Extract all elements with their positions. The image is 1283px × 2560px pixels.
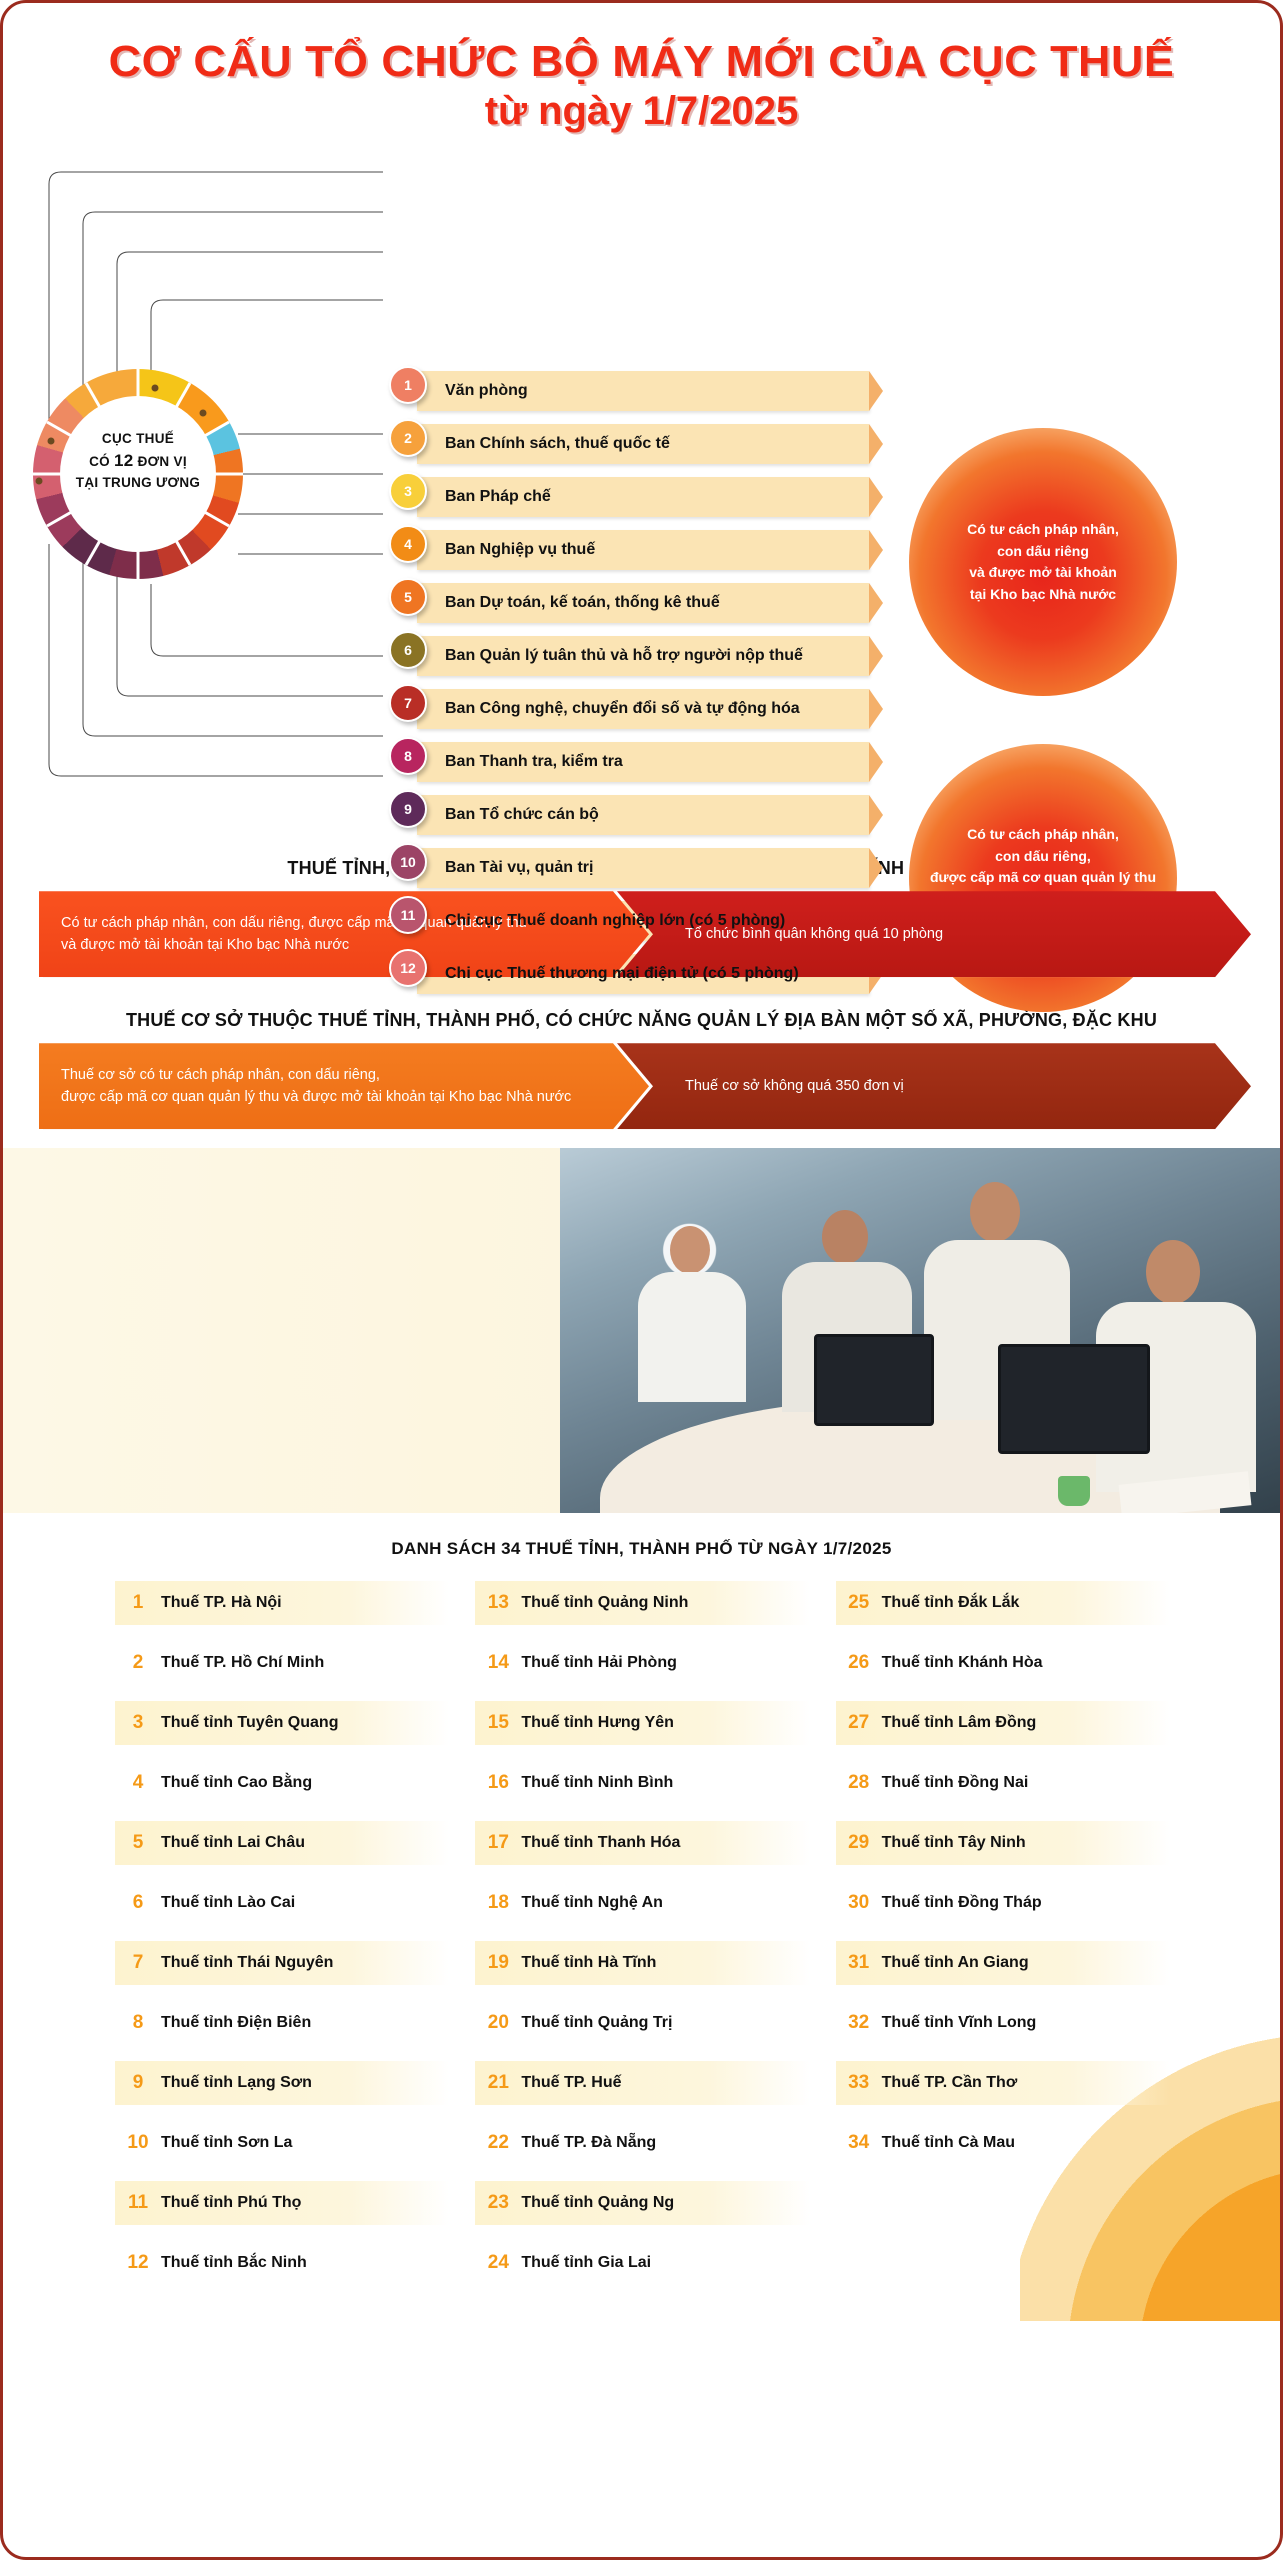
donut-chart: CỤC THUẾ CÓ 12 ĐƠN VỊ TẠI TRUNG ƯƠNG — [33, 369, 243, 579]
province-name: Thuế tỉnh Khánh Hòa — [882, 1654, 1043, 1672]
province-row: 23Thuế tỉnh Quảng Ng — [475, 2181, 809, 2225]
province-name: Thuế tỉnh Hà Tĩnh — [521, 1954, 656, 1972]
s2-right-line1: Thuế cơ sở không quá 350 đơn vị — [685, 1075, 904, 1097]
province-row: 25Thuế tỉnh Đắk Lắk — [836, 1581, 1170, 1625]
province-number: 18 — [475, 1892, 521, 1914]
province-number: 24 — [475, 2252, 521, 2274]
s2-left-line1: Thuế cơ sở có tư cách pháp nhân, con dấu… — [61, 1064, 571, 1086]
tax-office-photo — [560, 1148, 1280, 1513]
page-header: CƠ CẤU TỔ CHỨC BỘ MÁY MỚI CỦA CỤC THUẾ t… — [3, 3, 1280, 144]
province-name: Thuế TP. Hồ Chí Minh — [161, 1654, 324, 1672]
province-name: Thuế tỉnh Đồng Tháp — [882, 1894, 1042, 1912]
province-number: 5 — [115, 1832, 161, 1854]
province-number: 11 — [115, 2192, 161, 2214]
province-row: 5Thuế tỉnh Lai Châu — [115, 1821, 449, 1865]
donut-prefix: CÓ — [89, 454, 114, 469]
unit-row: 2Ban Chính sách, thuế quốc tế — [389, 419, 869, 471]
unit-row: 3Ban Pháp chế — [389, 472, 869, 524]
province-list-title: DANH SÁCH 34 THUẾ TỈNH, THÀNH PHỐ TỪ NGÀ… — [3, 1539, 1280, 1559]
province-number: 13 — [475, 1592, 521, 1614]
province-row: 31Thuế tỉnh An Giang — [836, 1941, 1170, 1985]
province-number: 17 — [475, 1832, 521, 1854]
province-list-section: DANH SÁCH 34 THUẾ TỈNH, THÀNH PHỐ TỪ NGÀ… — [3, 1513, 1280, 2321]
province-name: Thuế tỉnh Quảng Trị — [521, 2014, 672, 2032]
province-number: 29 — [836, 1832, 882, 1854]
photo-monitor-1 — [814, 1334, 934, 1426]
photo-monitor-2 — [998, 1344, 1150, 1454]
unit-row: 5Ban Dự toán, kế toán, thống kê thuế — [389, 578, 869, 630]
province-number: 6 — [115, 1892, 161, 1914]
province-row: 6Thuế tỉnh Lào Cai — [115, 1881, 449, 1925]
province-name: Thuế tỉnh Đắk Lắk — [882, 1594, 1020, 1612]
province-name: Thuế tỉnh Sơn La — [161, 2134, 292, 2152]
province-row: 9Thuế tỉnh Lạng Sơn — [115, 2061, 449, 2105]
province-row: 21Thuế TP. Huế — [475, 2061, 809, 2105]
province-name: Thuế tỉnh Vĩnh Long — [882, 2014, 1037, 2032]
province-row: 29Thuế tỉnh Tây Ninh — [836, 1821, 1170, 1865]
unit-number: 11 — [389, 896, 427, 934]
province-number: 9 — [115, 2072, 161, 2094]
province-number: 20 — [475, 2012, 521, 2034]
province-number: 34 — [836, 2132, 882, 2154]
province-row: 11Thuế tỉnh Phú Thọ — [115, 2181, 449, 2225]
province-number: 15 — [475, 1712, 521, 1734]
province-number: 4 — [115, 1772, 161, 1794]
donut-unit-count: 12 — [114, 451, 134, 470]
donut-center-line2: CÓ 12 ĐƠN VỊ — [51, 449, 225, 474]
province-row: 3Thuế tỉnh Tuyên Quang — [115, 1701, 449, 1745]
province-name: Thuế tỉnh Đồng Nai — [882, 1774, 1029, 1792]
unit-row: 4Ban Nghiệp vụ thuế — [389, 525, 869, 577]
province-number: 10 — [115, 2132, 161, 2154]
donut-suffix: ĐƠN VỊ — [134, 454, 187, 469]
province-row: 28Thuế tỉnh Đồng Nai — [836, 1761, 1170, 1805]
province-row: 26Thuế tỉnh Khánh Hòa — [836, 1641, 1170, 1685]
page-title: CƠ CẤU TỔ CHỨC BỘ MÁY MỚI CỦA CỤC THUẾ — [0, 37, 1283, 86]
province-number: 22 — [475, 2132, 521, 2154]
province-number: 26 — [836, 1652, 882, 1674]
unit-label: Ban Tài vụ, quản trị — [445, 843, 593, 893]
province-name: Thuế tỉnh Lai Châu — [161, 1834, 305, 1852]
donut-center-line1: CỤC THUẾ — [51, 429, 225, 449]
province-name: Thuế TP. Cần Thơ — [882, 2074, 1018, 2092]
province-name: Thuế tỉnh Tuyên Quang — [161, 1714, 338, 1732]
province-name: Thuế tỉnh Bắc Ninh — [161, 2254, 307, 2272]
province-grid: 1Thuế TP. Hà Nội2Thuế TP. Hồ Chí Minh3Th… — [3, 1581, 1280, 2301]
province-name: Thuế tỉnh Nghệ An — [521, 1894, 663, 1912]
province-name: Thuế tỉnh Quảng Ng — [521, 2194, 674, 2212]
province-number: 28 — [836, 1772, 882, 1794]
photo-person-head-1 — [670, 1226, 710, 1274]
province-row: 16Thuế tỉnh Ninh Bình — [475, 1761, 809, 1805]
org-structure-diagram: CỤC THUẾ CÓ 12 ĐƠN VỊ TẠI TRUNG ƯƠNG 1Vă… — [3, 144, 1280, 844]
unit-label: Ban Tổ chức cán bộ — [445, 790, 599, 840]
section-2-right-banner: Thuế cơ sở không quá 350 đơn vị — [617, 1043, 1251, 1129]
province-row: 1Thuế TP. Hà Nội — [115, 1581, 449, 1625]
province-name: Thuế tỉnh Điện Biên — [161, 2014, 311, 2032]
province-name: Thuế tỉnh An Giang — [882, 1954, 1029, 1972]
badge-line: được cấp mã cơ quan quản lý thu — [930, 867, 1156, 889]
province-row: 14Thuế tỉnh Hải Phòng — [475, 1641, 809, 1685]
province-row: 32Thuế tỉnh Vĩnh Long — [836, 2001, 1170, 2045]
unit-label: Ban Nghiệp vụ thuế — [445, 525, 595, 575]
photo-person-head-3 — [970, 1182, 1020, 1242]
unit-label: Văn phòng — [445, 366, 528, 416]
province-row: 2Thuế TP. Hồ Chí Minh — [115, 1641, 449, 1685]
province-column-1: 1Thuế TP. Hà Nội2Thuế TP. Hồ Chí Minh3Th… — [115, 1581, 449, 2301]
province-name: Thuế tỉnh Lâm Đồng — [882, 1714, 1037, 1732]
province-row: 12Thuế tỉnh Bắc Ninh — [115, 2241, 449, 2285]
unit-label: Ban Chính sách, thuế quốc tế — [445, 419, 670, 469]
badge-legal-status-1: Có tư cách pháp nhân,con dấu riêngvà đượ… — [909, 428, 1177, 696]
province-row: 34Thuế tỉnh Cà Mau — [836, 2121, 1170, 2165]
province-row: 18Thuế tỉnh Nghệ An — [475, 1881, 809, 1925]
donut-center-line3: TẠI TRUNG ƯƠNG — [51, 473, 225, 493]
province-name: Thuế tỉnh Lạng Sơn — [161, 2074, 312, 2092]
unit-row: 12Chi cục Thuế thương mại điện tử (có 5 … — [389, 949, 869, 1001]
unit-label: Ban Thanh tra, kiểm tra — [445, 737, 623, 787]
badge-line: Có tư cách pháp nhân, — [930, 824, 1156, 846]
province-row: 22Thuế TP. Đà Nẵng — [475, 2121, 809, 2165]
badge-line: con dấu riêng — [967, 541, 1119, 563]
unit-number: 3 — [389, 472, 427, 510]
province-name: Thuế tỉnh Phú Thọ — [161, 2194, 301, 2212]
infographic-page: CƠ CẤU TỔ CHỨC BỘ MÁY MỚI CỦA CỤC THUẾ t… — [0, 0, 1283, 2560]
province-row: 33Thuế TP. Cần Thơ — [836, 2061, 1170, 2105]
section-2-left-banner: Thuế cơ sở có tư cách pháp nhân, con dấu… — [39, 1043, 649, 1129]
photo-person-head-2 — [822, 1210, 868, 1264]
unit-row: 6Ban Quản lý tuân thủ và hỗ trợ người nộ… — [389, 631, 869, 683]
unit-number: 12 — [389, 949, 427, 987]
unit-label: Ban Công nghệ, chuyển đổi số và tự động … — [445, 684, 800, 734]
province-name: Thuế tỉnh Thanh Hóa — [521, 1834, 680, 1852]
province-name: Thuế tỉnh Gia Lai — [521, 2254, 651, 2272]
office-photo-strip: CỤC TRƯỞNG CỤC THUẾ CÓ TRÁCH NHIỆM quy đ… — [3, 1148, 1280, 1513]
province-number: 14 — [475, 1652, 521, 1674]
province-row: 27Thuế tỉnh Lâm Đồng — [836, 1701, 1170, 1745]
province-column-2: 13Thuế tỉnh Quảng Ninh14Thuế tỉnh Hải Ph… — [475, 1581, 809, 2301]
unit-label: Ban Dự toán, kế toán, thống kê thuế — [445, 578, 720, 628]
province-number: 30 — [836, 1892, 882, 1914]
province-name: Thuế tỉnh Tây Ninh — [882, 1834, 1026, 1852]
badge-line: con dấu riêng, — [930, 846, 1156, 868]
province-row: 17Thuế tỉnh Thanh Hóa — [475, 1821, 809, 1865]
province-row: 7Thuế tỉnh Thái Nguyên — [115, 1941, 449, 1985]
province-number: 8 — [115, 2012, 161, 2034]
page-subtitle: từ ngày 1/7/2025 — [3, 88, 1280, 134]
badge-line: và được mở tài khoản — [967, 562, 1119, 584]
province-row: 4Thuế tỉnh Cao Bằng — [115, 1761, 449, 1805]
badge-line: Có tư cách pháp nhân, — [967, 519, 1119, 541]
unit-number: 7 — [389, 684, 427, 722]
province-number: 32 — [836, 2012, 882, 2034]
province-name: Thuế TP. Đà Nẵng — [521, 2134, 656, 2152]
province-name: Thuế tỉnh Lào Cai — [161, 1894, 295, 1912]
donut-center-label: CỤC THUẾ CÓ 12 ĐƠN VỊ TẠI TRUNG ƯƠNG — [51, 429, 225, 493]
province-column-3: 25Thuế tỉnh Đắk Lắk26Thuế tỉnh Khánh Hòa… — [836, 1581, 1170, 2301]
province-row: 19Thuế tỉnh Hà Tĩnh — [475, 1941, 809, 1985]
province-name: Thuế TP. Hà Nội — [161, 1594, 282, 1612]
photo-person-body-1 — [638, 1272, 746, 1402]
province-number: 1 — [115, 1592, 161, 1614]
province-number: 16 — [475, 1772, 521, 1794]
province-row: 20Thuế tỉnh Quảng Trị — [475, 2001, 809, 2045]
province-number: 12 — [115, 2252, 161, 2274]
unit-number: 5 — [389, 578, 427, 616]
province-name: Thuế tỉnh Thái Nguyên — [161, 1954, 333, 1972]
province-number: 7 — [115, 1952, 161, 1974]
unit-number: 4 — [389, 525, 427, 563]
province-number: 19 — [475, 1952, 521, 1974]
unit-row: 10Ban Tài vụ, quản trị — [389, 843, 869, 895]
province-number: 33 — [836, 2072, 882, 2094]
unit-number: 6 — [389, 631, 427, 669]
unit-number: 2 — [389, 419, 427, 457]
province-name: Thuế TP. Huế — [521, 2074, 621, 2092]
unit-number: 8 — [389, 737, 427, 775]
province-row: 15Thuế tỉnh Hưng Yên — [475, 1701, 809, 1745]
unit-number: 9 — [389, 790, 427, 828]
province-number: 27 — [836, 1712, 882, 1734]
photo-person-head-4 — [1146, 1240, 1200, 1304]
province-row: 13Thuế tỉnh Quảng Ninh — [475, 1581, 809, 1625]
province-number: 31 — [836, 1952, 882, 1974]
unit-number: 10 — [389, 843, 427, 881]
province-number: 3 — [115, 1712, 161, 1734]
badge-line: tại Kho bạc Nhà nước — [967, 584, 1119, 606]
unit-row: 8Ban Thanh tra, kiểm tra — [389, 737, 869, 789]
unit-label: Chi cục Thuế thương mại điện tử (có 5 ph… — [445, 949, 799, 999]
province-number: 2 — [115, 1652, 161, 1674]
province-name: Thuế tỉnh Ninh Bình — [521, 1774, 673, 1792]
unit-row: 9Ban Tổ chức cán bộ — [389, 790, 869, 842]
province-number: 23 — [475, 2192, 521, 2214]
province-row: 8Thuế tỉnh Điện Biên — [115, 2001, 449, 2045]
province-name: Thuế tỉnh Cao Bằng — [161, 1774, 312, 1792]
province-row: 30Thuế tỉnh Đồng Tháp — [836, 1881, 1170, 1925]
unit-number: 1 — [389, 366, 427, 404]
unit-row: 1Văn phòng — [389, 366, 869, 418]
province-name: Thuế tỉnh Hải Phòng — [521, 1654, 677, 1672]
photo-cup — [1058, 1476, 1090, 1506]
unit-label: Ban Pháp chế — [445, 472, 551, 522]
province-row: 10Thuế tỉnh Sơn La — [115, 2121, 449, 2165]
province-name: Thuế tỉnh Quảng Ninh — [521, 1594, 688, 1612]
province-number: 25 — [836, 1592, 882, 1614]
unit-row: 7Ban Công nghệ, chuyển đổi số và tự động… — [389, 684, 869, 736]
s2-left-line2: được cấp mã cơ quan quản lý thu và được … — [61, 1086, 571, 1108]
province-name: Thuế tỉnh Cà Mau — [882, 2134, 1015, 2152]
province-name: Thuế tỉnh Hưng Yên — [521, 1714, 674, 1732]
province-row: 24Thuế tỉnh Gia Lai — [475, 2241, 809, 2285]
unit-label: Ban Quản lý tuân thủ và hỗ trợ người nộp… — [445, 631, 803, 681]
province-number: 21 — [475, 2072, 521, 2094]
section-2-banners: Thuế cơ sở có tư cách pháp nhân, con dấu… — [39, 1043, 1244, 1148]
unit-label: Chi cục Thuế doanh nghiệp lớn (có 5 phòn… — [445, 896, 785, 946]
